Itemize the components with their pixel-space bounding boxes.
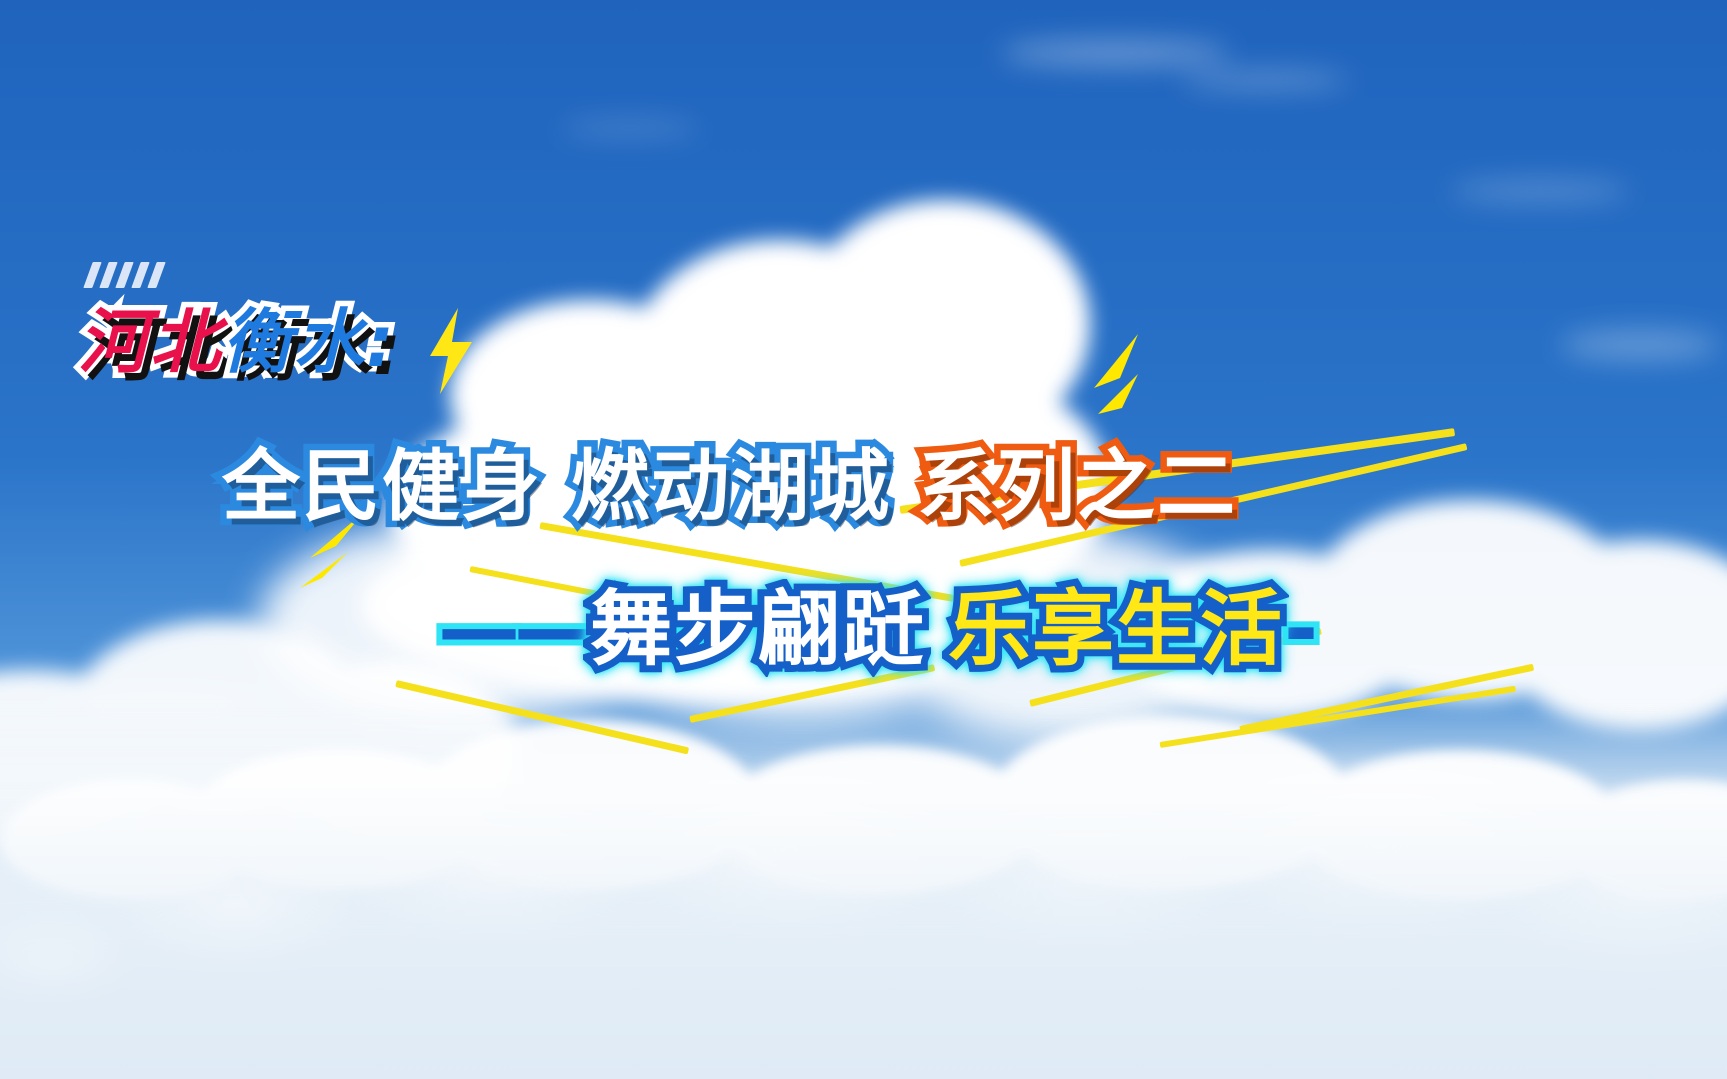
headline-group: 河北衡水: 全民健身 燃动湖城系列之二 ——舞步翩跹乐享生活- — [0, 0, 1727, 1079]
headline-line-1-city: 衡水: — [222, 286, 396, 387]
headline-line-3-dash-trail: - — [1284, 582, 1320, 677]
headline-line-2: 全民健身 燃动湖城系列之二 — [222, 424, 1237, 536]
title-card-canvas: 河北衡水: 全民健身 燃动湖城系列之二 ——舞步翩跹乐享生活- — [0, 0, 1727, 1079]
headline-line-2-main: 全民健身 燃动湖城 — [222, 424, 891, 536]
headline-line-1-location: 河北 — [78, 286, 222, 387]
headline-line-3: ——舞步翩跹乐享生活- — [438, 562, 1320, 681]
headline-line-3-yellow: 乐享生活 — [948, 562, 1284, 681]
headline-line-1: 河北衡水: — [78, 286, 396, 387]
headline-line-3-white: 舞步翩跹 — [590, 562, 926, 681]
headline-line-2-series: 系列之二 — [917, 424, 1237, 536]
headline-line-3-dash: —— — [438, 582, 590, 677]
